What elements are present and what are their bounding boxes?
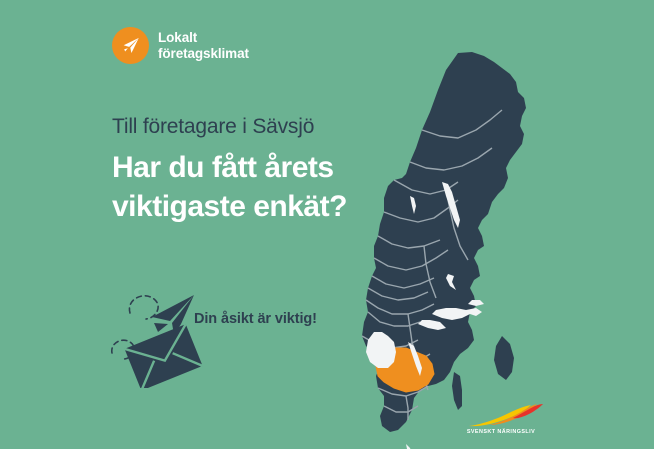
island-gotland: [494, 336, 514, 380]
paper-plane-shape: [152, 295, 194, 335]
tagline-text: Din åsikt är viktig!: [194, 311, 317, 327]
brand-logo[interactable]: Lokalt företagsklimat: [112, 27, 249, 64]
poster-canvas: Lokalt företagsklimat Till företagare i …: [0, 0, 654, 449]
sweden-map[interactable]: [350, 50, 560, 449]
sponsor-wordmark: SVENSKT NÄRINGSLIV: [455, 429, 547, 435]
paper-plane-and-envelope-illustration: [108, 283, 228, 388]
illustration-group: Din åsikt är viktig!: [108, 283, 338, 388]
brand-wordmark: Lokalt företagsklimat: [158, 30, 249, 60]
paper-plane-icon: [112, 27, 149, 64]
envelope-shape: [125, 324, 203, 388]
svenskt-naringsliv-swoosh-icon: [455, 404, 547, 430]
sponsor-logo[interactable]: SVENSKT NÄRINGSLIV: [455, 404, 547, 440]
